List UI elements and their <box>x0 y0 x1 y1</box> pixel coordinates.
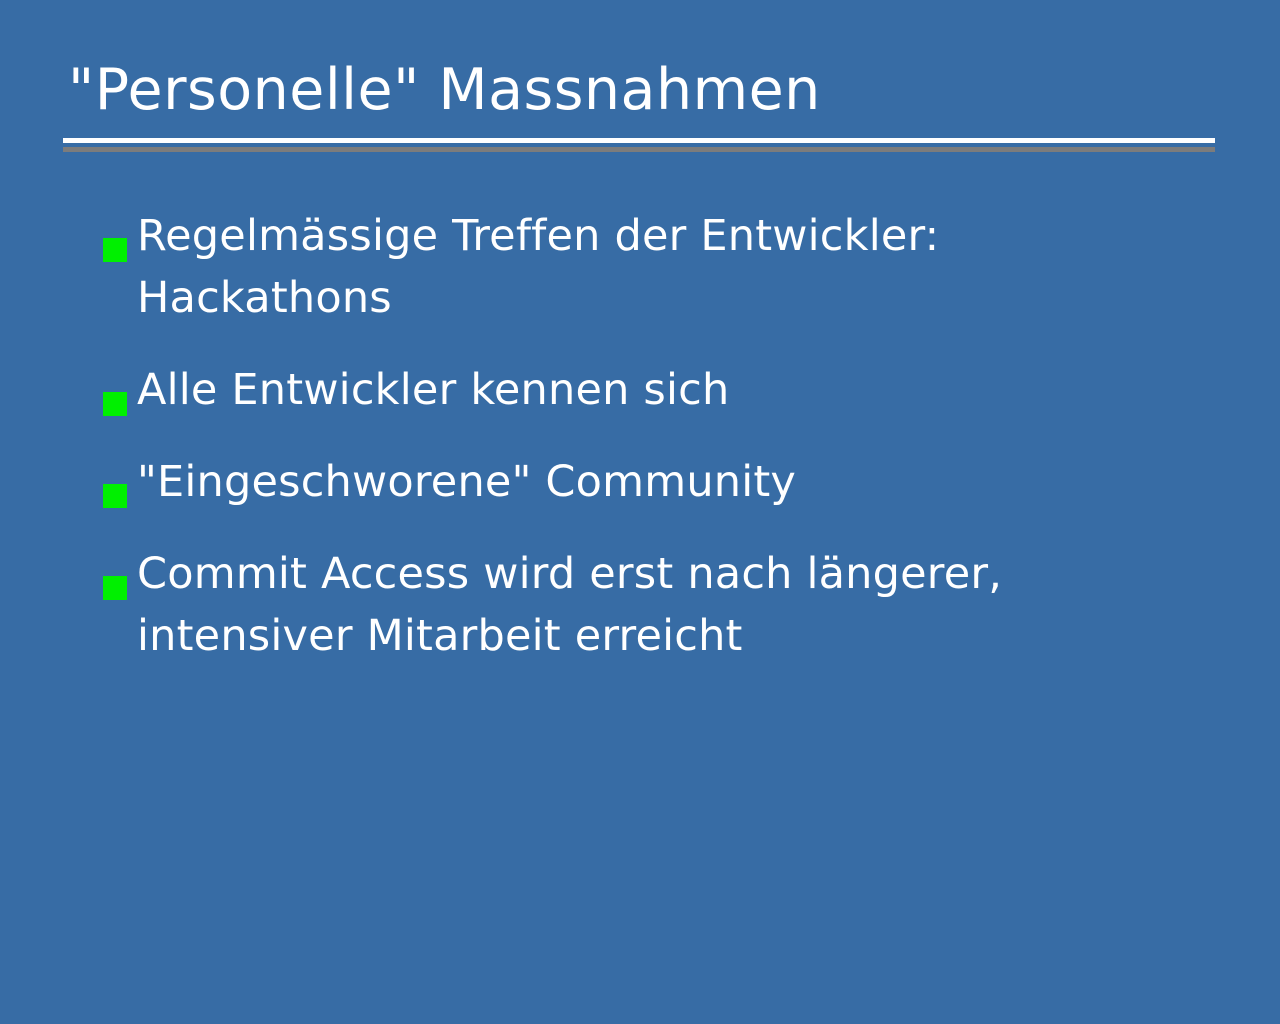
list-item: "Eingeschworene" Community <box>0 451 1280 513</box>
title-underline-rule <box>63 138 1215 143</box>
list-item-label: "Eingeschworene" Community <box>137 451 1007 513</box>
list-item-label: Commit Access wird erst nach längerer, i… <box>137 543 1007 667</box>
list-item: Alle Entwickler kennen sich <box>0 359 1280 421</box>
green-square-bullet-icon <box>103 576 127 600</box>
page-title: "Personelle" Massnahmen <box>68 58 821 122</box>
presentation-slide: "Personelle" Massnahmen Regelmässige Tre… <box>0 0 1280 1024</box>
slide-title-block: "Personelle" Massnahmen <box>0 0 1280 170</box>
green-square-bullet-icon <box>103 238 127 262</box>
green-square-bullet-icon <box>103 484 127 508</box>
list-item-label: Alle Entwickler kennen sich <box>137 359 1007 421</box>
list-item: Regelmässige Treffen der Entwickler: Hac… <box>0 205 1280 329</box>
bullet-list: Regelmässige Treffen der Entwickler: Hac… <box>0 205 1280 667</box>
list-item: Commit Access wird erst nach längerer, i… <box>0 543 1280 667</box>
list-item-label: Regelmässige Treffen der Entwickler: Hac… <box>137 205 1007 329</box>
title-underline-shadow <box>63 147 1215 152</box>
green-square-bullet-icon <box>103 392 127 416</box>
